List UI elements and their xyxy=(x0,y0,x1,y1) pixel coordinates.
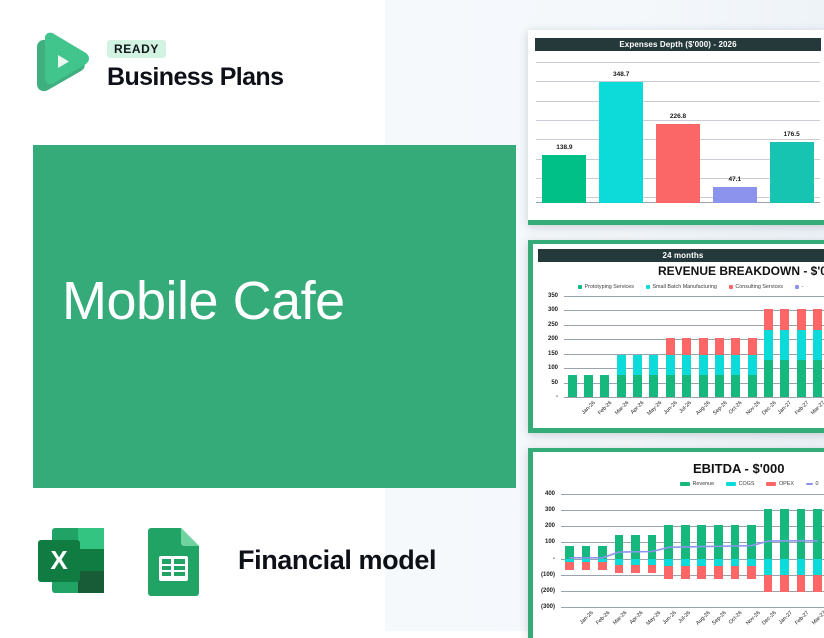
bar-segment xyxy=(748,355,757,375)
revenue-plot-area xyxy=(564,296,824,397)
stacked-bar xyxy=(649,355,658,397)
legend-swatch xyxy=(806,483,813,485)
card-top-accent xyxy=(528,448,824,452)
bar-group: 138.9348.7226.847.1176.5 xyxy=(536,60,820,203)
legend-label: - xyxy=(802,284,804,290)
stacked-bar xyxy=(682,338,691,397)
bar-segment xyxy=(764,309,773,330)
bar-segment xyxy=(682,355,691,375)
stacked-bar xyxy=(666,338,675,397)
x-tick-label: Feb-26 xyxy=(597,400,613,416)
y-tick-label: (100) xyxy=(541,572,555,578)
revenue-chart-title: REVENUE BREAKDOWN - $'0 xyxy=(658,264,824,278)
bar-segment xyxy=(748,375,757,397)
bar-value-label: 47.1 xyxy=(728,176,741,183)
x-tick-label: Feb-27 xyxy=(794,400,810,416)
bar-segment xyxy=(617,355,626,375)
play-logo-icon xyxy=(25,30,91,96)
x-tick-label: May-26 xyxy=(645,610,662,627)
revenue-chart-header: 24 months xyxy=(538,249,824,262)
x-tick-label: Jun-26 xyxy=(662,400,678,416)
x-tick-label: Mar-27 xyxy=(811,610,824,626)
x-tick-label: Jan-27 xyxy=(777,400,793,416)
card-top-accent xyxy=(528,240,824,244)
ready-badge: READY xyxy=(107,40,166,58)
legend-swatch xyxy=(680,482,690,486)
x-tick-label: Jan-26 xyxy=(581,400,597,416)
bar-segment xyxy=(731,375,740,397)
x-tick-label: Sep-26 xyxy=(712,400,729,417)
bar-segment xyxy=(682,338,691,355)
card-bottom-accent xyxy=(528,428,824,433)
stacked-bar xyxy=(584,375,593,397)
x-tick-label: Jun-26 xyxy=(662,610,678,626)
stacked-bar xyxy=(748,338,757,397)
brand-name: Business Plans xyxy=(107,65,367,90)
chart-card-revenue: 24 months REVENUE BREAKDOWN - $'0 Protot… xyxy=(528,240,824,433)
bar: 226.8 xyxy=(656,124,700,203)
legend-item: Revenue xyxy=(680,481,714,487)
bar-segment xyxy=(780,330,789,360)
revenue-x-axis: Jan-26Feb-26Mar-26Apr-26May-26Jun-26Jul-… xyxy=(564,398,824,428)
legend-item: Consulting Services xyxy=(729,284,783,290)
bar-segment xyxy=(682,375,691,397)
x-tick-label: Aug-26 xyxy=(695,610,712,627)
bar-segment xyxy=(731,338,740,355)
expenses-plot-area: 138.9348.7226.847.1176.5 xyxy=(536,60,820,203)
x-tick-label: Apr-26 xyxy=(628,610,644,626)
legend-swatch xyxy=(729,285,733,289)
revenue-y-axis: 35030025020015010050- xyxy=(528,296,561,397)
ebitda-x-axis: Jan-26Feb-26Mar-26Apr-26May-26Jun-26Jul-… xyxy=(561,608,824,638)
bar-segment xyxy=(748,338,757,355)
bar-segment xyxy=(780,360,789,397)
legend-swatch xyxy=(795,285,799,289)
stacked-bar xyxy=(633,355,642,397)
stacked-bar xyxy=(617,355,626,397)
stacked-bar xyxy=(699,338,708,397)
x-tick-label: Apr-26 xyxy=(630,400,646,416)
bar-segment xyxy=(797,360,806,397)
bar-segment xyxy=(813,330,822,360)
y-tick-label: (300) xyxy=(541,604,555,610)
bar-segment xyxy=(666,338,675,355)
x-tick-label: Feb-27 xyxy=(794,610,810,626)
y-tick-label: 100 xyxy=(548,365,558,371)
bar-segment xyxy=(666,355,675,375)
google-sheets-icon xyxy=(129,518,214,603)
legend-item: 0 xyxy=(806,481,819,487)
gridline xyxy=(564,296,824,297)
bar: 348.7 xyxy=(599,82,643,203)
y-tick-label: 250 xyxy=(548,322,558,328)
bar-segment xyxy=(600,375,609,397)
x-tick-label: Jan-27 xyxy=(777,610,793,626)
bar-segment xyxy=(666,375,675,397)
bar: 176.5 xyxy=(770,142,814,203)
legend-swatch xyxy=(726,482,736,486)
bar: 138.9 xyxy=(542,155,586,203)
bar-segment xyxy=(715,338,724,355)
y-tick-label: - xyxy=(553,556,555,562)
microsoft-excel-icon: X xyxy=(30,518,115,603)
chart-card-expenses: Expenses Depth ($'000) - 2026 138.9348.7… xyxy=(528,30,824,225)
card-bottom-accent xyxy=(528,220,824,225)
bar-segment xyxy=(764,330,773,360)
x-tick-label: Aug-26 xyxy=(695,400,712,417)
bar-segment xyxy=(633,375,642,397)
legend-swatch xyxy=(646,285,650,289)
legend-item: Small Batch Manufacturing xyxy=(646,284,717,290)
bar-segment xyxy=(780,309,789,330)
y-tick-label: 400 xyxy=(545,491,555,497)
x-tick-label: Mar-26 xyxy=(614,400,630,416)
bar-value-label: 176.5 xyxy=(783,131,799,138)
bar-segment xyxy=(649,355,658,375)
financial-model-label: Financial model xyxy=(238,545,436,576)
y-tick-label: 200 xyxy=(545,523,555,529)
bar-segment xyxy=(797,309,806,330)
legend-item: - xyxy=(795,284,803,290)
bar: 47.1 xyxy=(713,187,757,203)
y-tick-label: (200) xyxy=(541,588,555,594)
y-tick-label: 150 xyxy=(548,351,558,357)
y-tick-label: 350 xyxy=(548,293,558,299)
svg-text:X: X xyxy=(50,545,68,575)
bar-segment xyxy=(715,355,724,375)
ebitda-chart-title: EBITDA - $'000 xyxy=(693,461,784,476)
x-tick-label: Jul-26 xyxy=(678,610,693,625)
x-tick-label: Dec-26 xyxy=(761,610,778,627)
footer-row: X Financial model xyxy=(30,518,436,603)
legend-label: COGS xyxy=(739,481,755,487)
stacked-bar xyxy=(797,309,806,397)
bar-segment xyxy=(797,330,806,360)
bar-value-label: 348.7 xyxy=(613,71,629,78)
legend-swatch xyxy=(578,285,582,289)
x-tick-label: Oct-26 xyxy=(728,610,744,626)
x-tick-label: Mar-27 xyxy=(810,400,824,416)
brand-logo: READY Business Plans xyxy=(25,28,365,100)
x-tick-label: Oct-26 xyxy=(728,400,744,416)
x-tick-label: Nov-26 xyxy=(745,610,762,627)
slide-root: READY Business Plans Mobile Cafe X xyxy=(0,0,824,631)
y-tick-label: 200 xyxy=(548,336,558,342)
hero-banner: Mobile Cafe xyxy=(33,145,516,488)
legend-label: Small Batch Manufacturing xyxy=(652,284,716,290)
y-tick-label: 50 xyxy=(551,380,558,386)
legend-item: OPEX xyxy=(766,481,793,487)
stacked-bar xyxy=(813,309,822,397)
y-tick-label: - xyxy=(556,394,558,400)
x-tick-label: Nov-26 xyxy=(745,400,762,417)
stacked-bar xyxy=(568,375,577,397)
chart-card-ebitda: EBITDA - $'000 RevenueCOGSOPEX0 40030020… xyxy=(528,448,824,638)
bar-segment xyxy=(699,375,708,397)
x-tick-label: Mar-26 xyxy=(612,610,628,626)
legend-label: 0 xyxy=(815,481,818,487)
legend-item: Prototyping Services xyxy=(578,284,634,290)
x-tick-label: Dec-26 xyxy=(761,400,778,417)
legend-label: OPEX xyxy=(779,481,794,487)
stacked-bar xyxy=(780,309,789,397)
bar-segment xyxy=(568,375,577,397)
brand-logo-text: READY Business Plans xyxy=(107,28,367,98)
legend-swatch xyxy=(766,482,776,486)
bar-segment xyxy=(731,355,740,375)
bar-value-label: 138.9 xyxy=(556,144,572,151)
x-tick-label: Sep-26 xyxy=(711,610,728,627)
revenue-legend: Prototyping ServicesSmall Batch Manufact… xyxy=(578,284,803,290)
bar-segment xyxy=(715,375,724,397)
x-tick-label: Jul-26 xyxy=(678,400,693,415)
bar-segment xyxy=(584,375,593,397)
bar-segment xyxy=(617,375,626,397)
x-tick-label: May-26 xyxy=(647,400,664,417)
stacked-bar xyxy=(731,338,740,397)
x-tick-label: Jan-26 xyxy=(579,610,595,626)
bar-value-label: 226.8 xyxy=(670,113,686,120)
stacked-bar xyxy=(600,375,609,397)
bar-segment xyxy=(699,355,708,375)
page-title: Mobile Cafe xyxy=(62,274,345,328)
legend-item: COGS xyxy=(726,481,754,487)
x-tick-label: Feb-26 xyxy=(595,610,611,626)
zero-line-series xyxy=(561,494,824,607)
y-tick-label: 100 xyxy=(545,539,555,545)
bar-segment xyxy=(649,375,658,397)
ebitda-legend: RevenueCOGSOPEX0 xyxy=(680,481,818,487)
bar-segment xyxy=(699,338,708,355)
bar-segment xyxy=(813,360,822,397)
stacked-bar xyxy=(764,309,773,397)
ebitda-plot-area xyxy=(561,494,824,607)
expenses-chart-header: Expenses Depth ($'000) - 2026 xyxy=(535,38,821,51)
ebitda-y-axis: 400300200100-(100)(200)(300) xyxy=(528,494,558,607)
bar-segment xyxy=(764,360,773,397)
y-tick-label: 300 xyxy=(545,507,555,513)
stacked-bar xyxy=(715,338,724,397)
bar-segment xyxy=(813,309,822,330)
legend-label: Consulting Services xyxy=(735,284,783,290)
y-tick-label: 300 xyxy=(548,307,558,313)
legend-label: Prototyping Services xyxy=(585,284,634,290)
legend-label: Revenue xyxy=(693,481,715,487)
bar-segment xyxy=(633,355,642,375)
